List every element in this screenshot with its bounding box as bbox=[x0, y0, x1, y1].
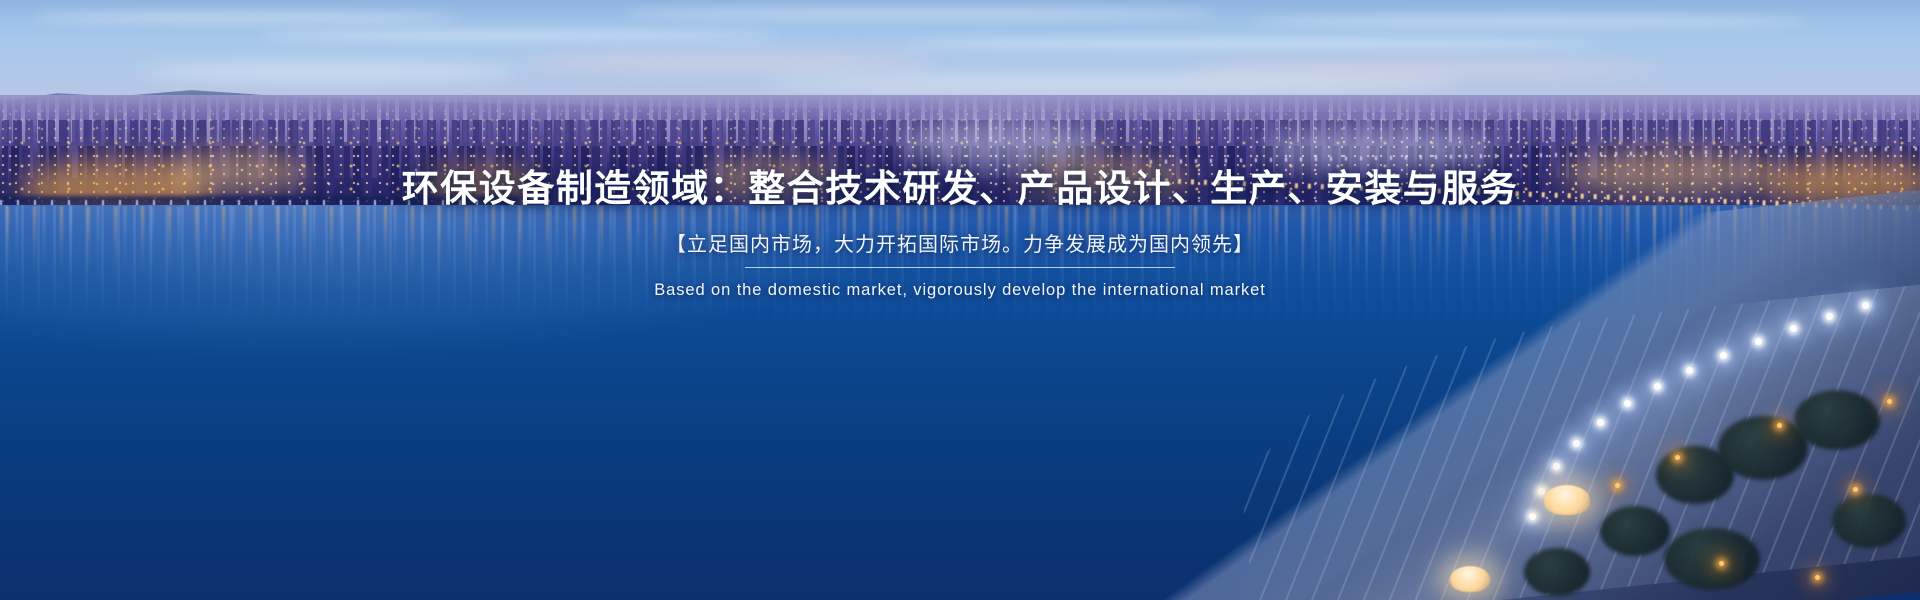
promenade-warm-light bbox=[1719, 561, 1724, 566]
cloud-wisp bbox=[260, 32, 780, 39]
hero-banner: 环保设备制造领域：整合技术研发、产品设计、生产、安装与服务 【立足国内市场，大力… bbox=[0, 0, 1920, 600]
cloud-pink bbox=[520, 54, 940, 70]
cloud-wisp bbox=[900, 40, 1600, 47]
promenade-tree bbox=[1664, 528, 1760, 590]
lit-pavilion-dome bbox=[1450, 566, 1490, 592]
promenade-tree bbox=[1524, 548, 1590, 596]
promenade-warm-light bbox=[1615, 483, 1620, 488]
promenade-warm-light bbox=[1815, 575, 1820, 580]
cloud-wisp bbox=[620, 10, 1220, 17]
promenade-warm-light bbox=[1887, 399, 1892, 404]
cloud-wisp bbox=[140, 66, 520, 78]
promenade-warm-light bbox=[1777, 423, 1782, 428]
promenade-warm-light bbox=[1853, 487, 1858, 492]
promenade-tree bbox=[1600, 506, 1670, 556]
cloud-pink bbox=[1180, 62, 1660, 76]
cloud-wisp bbox=[30, 14, 460, 21]
promenade-tree bbox=[1832, 494, 1906, 548]
promenade-warm-light bbox=[1675, 455, 1680, 460]
cloud-wisp bbox=[760, 78, 1460, 90]
promenade-tree bbox=[1794, 390, 1880, 450]
cloud-wisp bbox=[1250, 18, 1810, 25]
lit-pavilion-dome bbox=[1544, 485, 1590, 515]
